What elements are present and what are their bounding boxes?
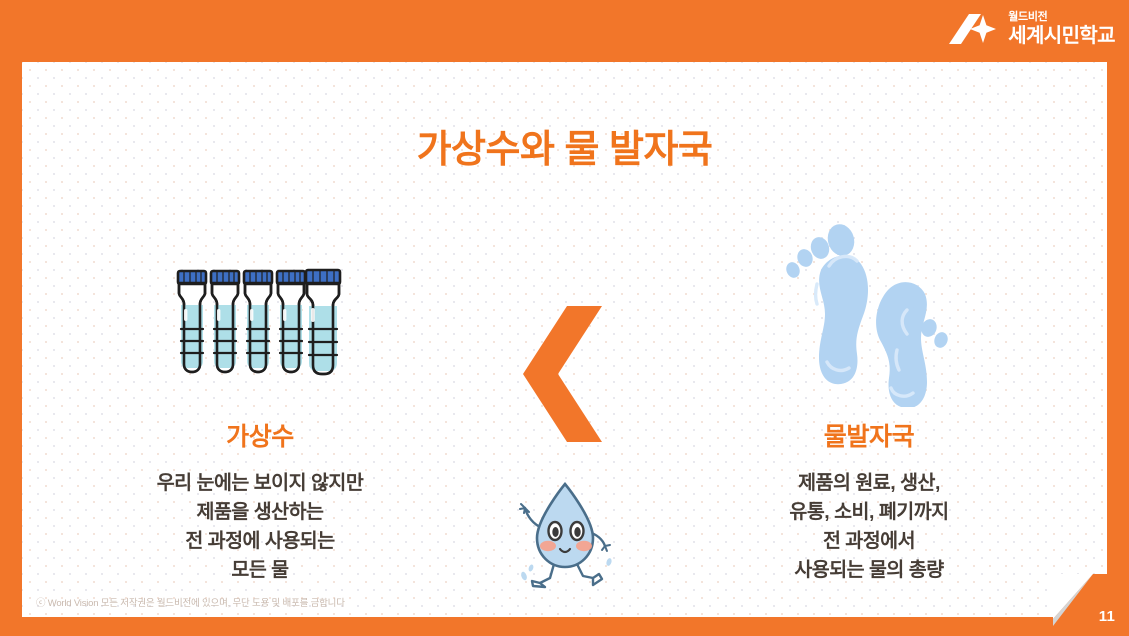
body-line: 사용되는 물의 총량 (659, 556, 1079, 585)
column-body-water-footprint: 제품의 원료, 생산, 유통, 소비, 폐기까지 전 과정에서 사용되는 물의 … (659, 469, 1079, 584)
body-line: 전 과정에서 (659, 527, 1079, 556)
world-vision-star-slash-icon (947, 11, 1001, 47)
body-line: 제품을 생산하는 (50, 498, 470, 527)
chevron-left-icon (520, 304, 610, 444)
footprints-illustration (659, 222, 1079, 407)
body-line: 유통, 소비, 폐기까지 (659, 498, 1079, 527)
water-bottles-illustration (50, 222, 470, 407)
brand-logo-big-text: 세계시민학교 (1008, 26, 1115, 46)
page-number: 11 (1099, 608, 1115, 625)
slide-root: 월드비전 세계시민학교 가상수와 물 발자국 (0, 0, 1129, 636)
copyright-text: ⓒ World Vision 모든 저작권은 월드비전에 있으며, 무단 도용 … (36, 595, 345, 609)
brand-logo-small-text: 월드비전 (1008, 12, 1115, 23)
column-body-virtual-water: 우리 눈에는 보이지 않지만 제품을 생산하는 전 과정에 사용되는 모든 물 (50, 469, 470, 584)
brand-logo: 월드비전 세계시민학교 (947, 8, 1115, 50)
water-drop-character (505, 480, 625, 590)
page-title: 가상수와 물 발자국 (22, 118, 1107, 173)
slide-card: 가상수와 물 발자국 (22, 62, 1107, 617)
brand-logo-text: 월드비전 세계시민학교 (1008, 12, 1115, 46)
body-line: 우리 눈에는 보이지 않지만 (50, 469, 470, 498)
body-line: 모든 물 (50, 556, 470, 585)
body-line: 전 과정에 사용되는 (50, 527, 470, 556)
column-heading-virtual-water: 가상수 (50, 417, 470, 453)
body-line: 제품의 원료, 생산, (659, 469, 1079, 498)
column-heading-water-footprint: 물발자국 (659, 417, 1079, 453)
column-water-footprint: 물발자국 제품의 원료, 생산, 유통, 소비, 폐기까지 전 과정에서 사용되… (659, 222, 1079, 584)
column-virtual-water: 가상수 우리 눈에는 보이지 않지만 제품을 생산하는 전 과정에 사용되는 모… (50, 222, 470, 584)
page-corner: 11 (1053, 574, 1129, 636)
